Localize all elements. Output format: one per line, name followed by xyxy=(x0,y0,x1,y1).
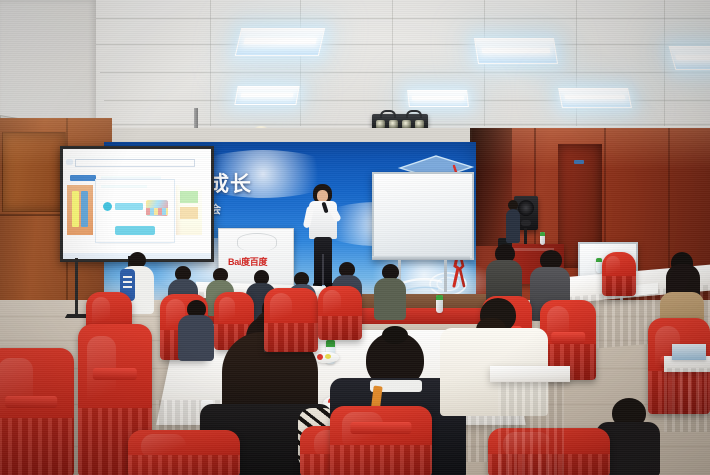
table-skirt xyxy=(664,368,710,432)
baidu-logo-text: Bai度百度 xyxy=(228,255,267,268)
ceiling-tile-line xyxy=(300,0,301,128)
ceiling-tile-line xyxy=(664,0,665,128)
chair xyxy=(330,406,432,475)
ceiling-light-panel xyxy=(235,28,325,56)
projection-screen xyxy=(60,146,214,262)
ceiling-tile-line xyxy=(96,44,710,45)
ceiling-light-panel xyxy=(558,88,632,108)
chair xyxy=(128,430,240,475)
whiteboard-main xyxy=(372,172,474,260)
ceiling-light-panel xyxy=(407,90,469,107)
ceiling-tile-line xyxy=(576,0,577,128)
chair xyxy=(318,286,362,340)
podium-bottle xyxy=(540,232,545,245)
ceiling-tile-line xyxy=(484,0,485,128)
ceiling-tile-line xyxy=(96,18,710,19)
ceiling-light-panel xyxy=(669,46,710,70)
ceiling-tile-line xyxy=(210,0,211,128)
door-sign xyxy=(574,160,584,164)
ceiling-tile-line xyxy=(100,72,710,73)
chair xyxy=(0,348,74,475)
person-at-podium xyxy=(506,200,520,244)
ceiling-light-panel xyxy=(234,86,299,105)
whiteboard-tray xyxy=(372,256,470,260)
conference-room-photo: 智营销·新成长 推广企业英才交流会 xyxy=(0,0,710,475)
microphone-stand xyxy=(75,258,78,318)
paper-handout xyxy=(672,344,706,360)
table-top xyxy=(490,366,570,382)
table-skirt xyxy=(498,376,564,475)
attendee-person xyxy=(374,264,406,318)
hair-bun xyxy=(382,326,408,344)
ceiling-light-panel xyxy=(474,38,558,64)
chair xyxy=(264,288,318,352)
whiteboard-leg xyxy=(444,260,447,292)
projected-slide-content xyxy=(63,149,211,259)
ceiling-tile-line xyxy=(392,0,393,128)
chair xyxy=(602,252,636,296)
